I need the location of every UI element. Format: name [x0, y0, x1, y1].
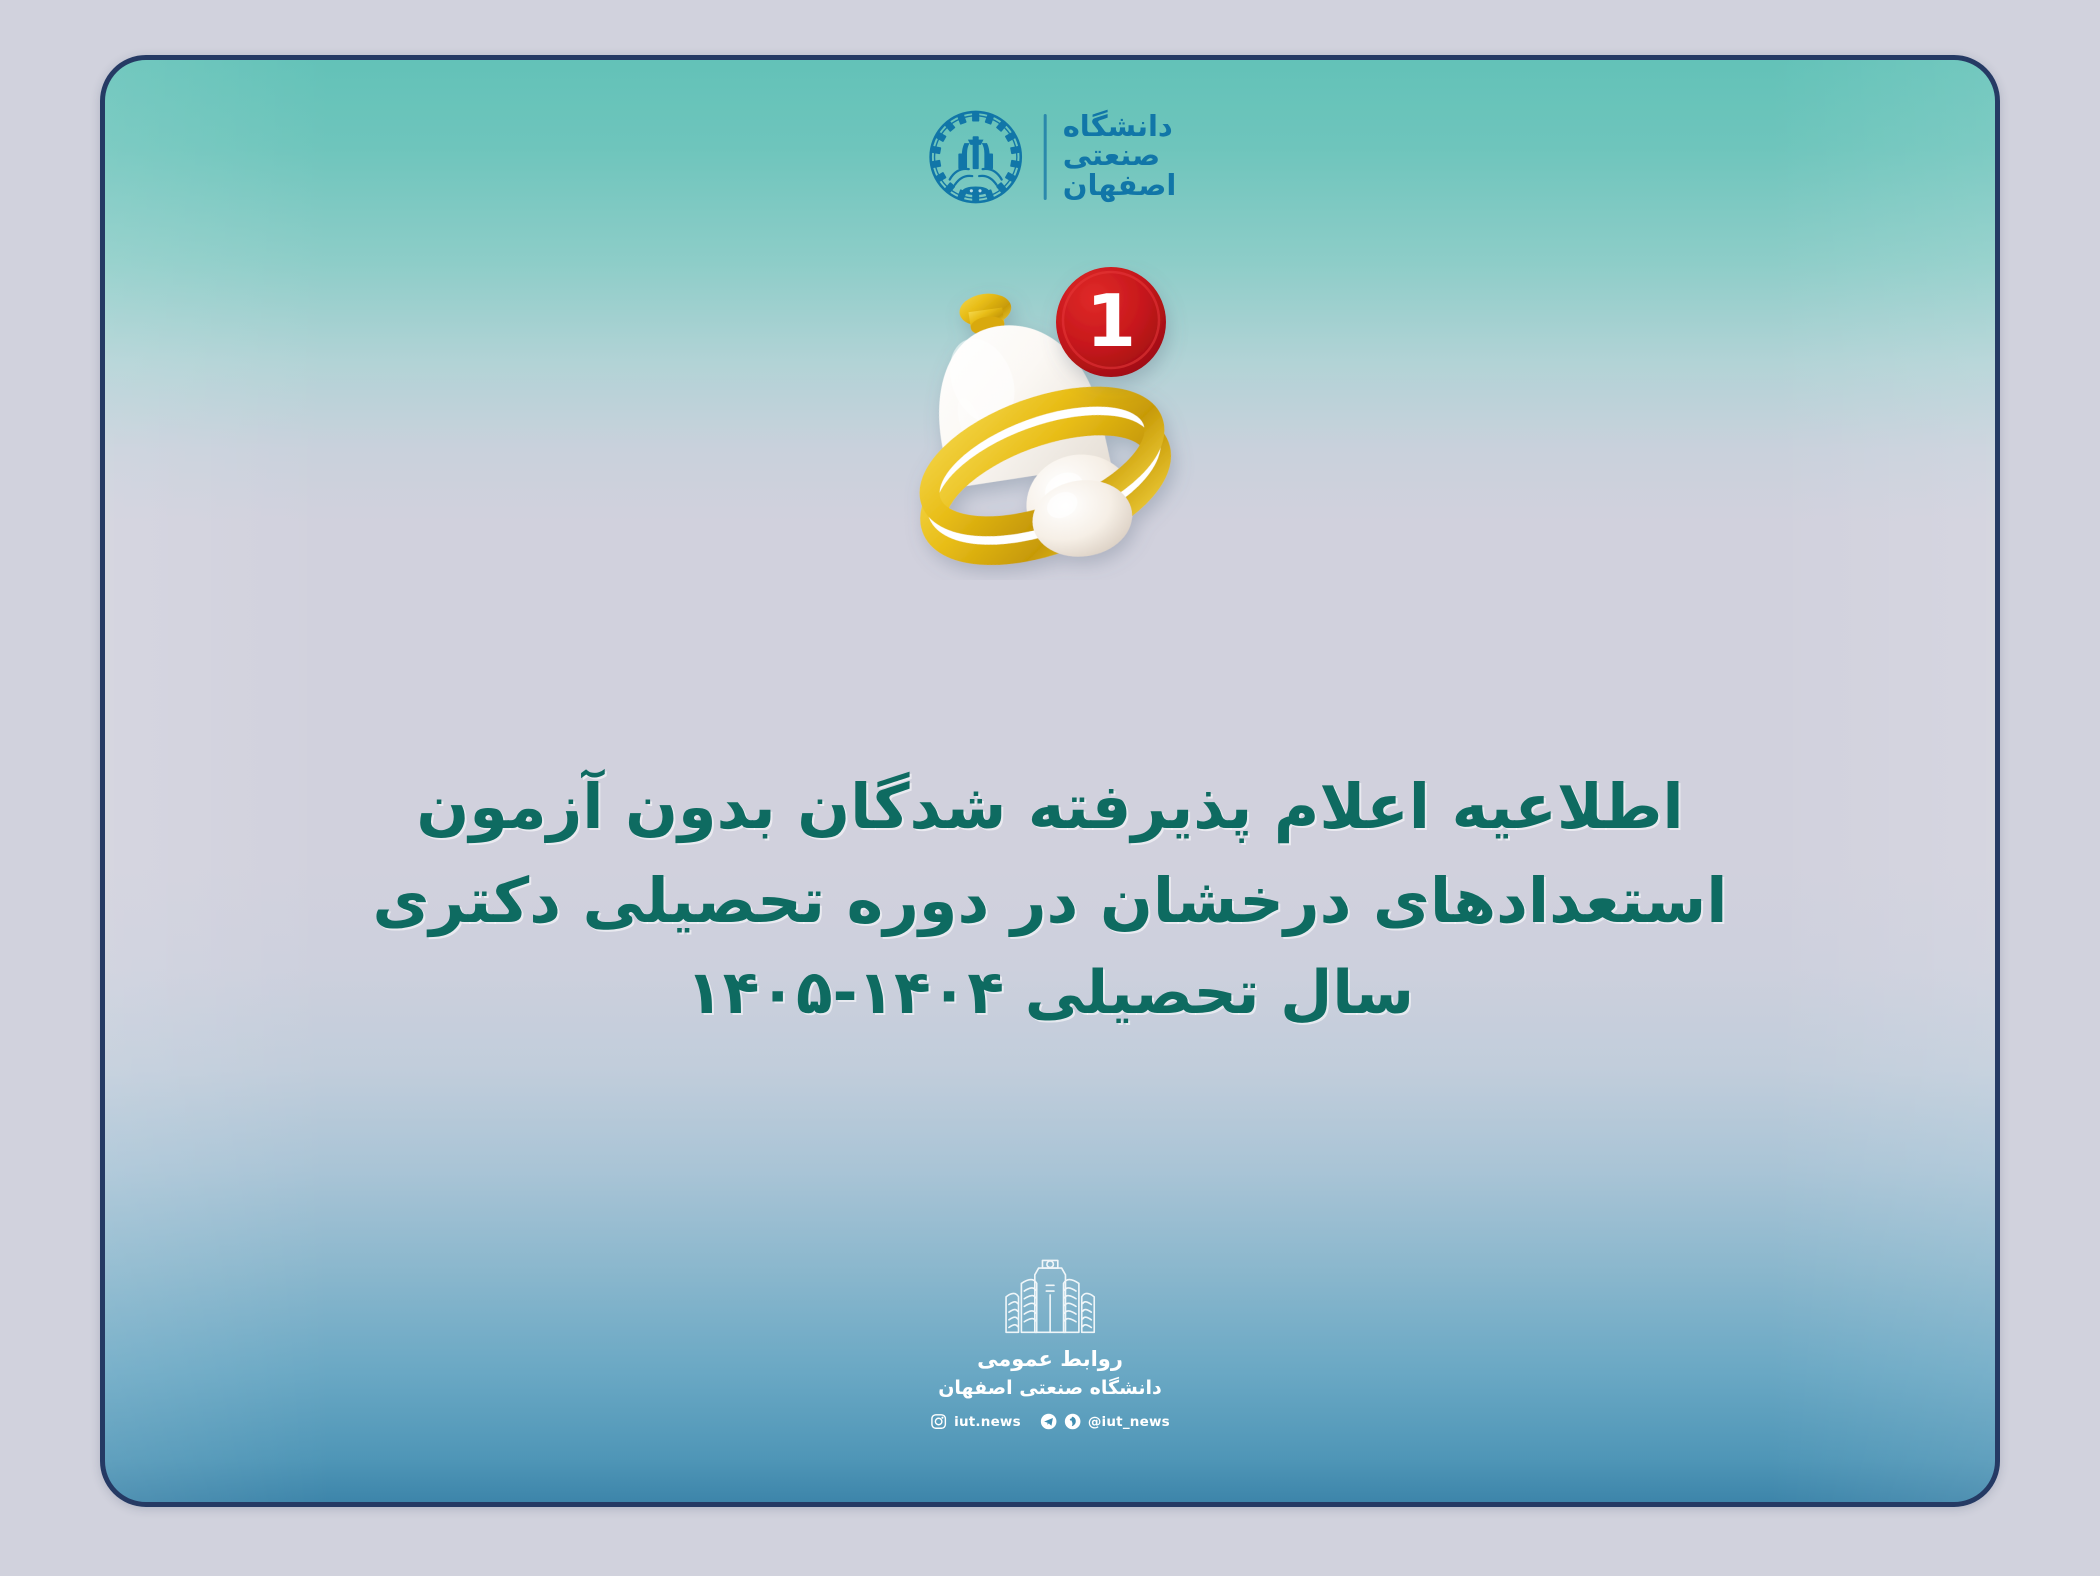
iut-gear-emblem-icon — [924, 105, 1028, 209]
badge-count: 1 — [1086, 279, 1136, 363]
bale-icon[interactable] — [1064, 1413, 1081, 1430]
social-handles: iut.news @iut_news — [930, 1413, 1170, 1430]
brand-wordmark: دانشگاه صنعتی اصفهان — [1063, 112, 1177, 203]
telegram-bale-handle[interactable]: @iut_news — [1088, 1414, 1170, 1430]
brand-word-line-1: دانشگاه — [1063, 112, 1173, 142]
announcement-headline: اطلاعیه اعلام پذیرفته شدگان بدون آزمون ا… — [340, 760, 1760, 1040]
brand-divider — [1044, 114, 1047, 200]
brand-word-line-2: صنعتی — [1063, 141, 1160, 171]
instagram-icon[interactable] — [930, 1413, 947, 1430]
bell-illustration-icon: 1 — [885, 260, 1215, 580]
university-brand-lockup: دانشگاه صنعتی اصفهان — [924, 105, 1177, 209]
telegram-icon[interactable] — [1040, 1413, 1057, 1430]
brand-word-line-3: اصفهان — [1063, 171, 1177, 201]
headline-line-3: سال تحصیلی ۱۴۰۴-۱۴۰۵ — [340, 948, 1760, 1039]
announcement-card: دانشگاه صنعتی اصفهان — [100, 55, 2000, 1507]
instagram-handle[interactable]: iut.news — [954, 1414, 1021, 1430]
public-relations-footer: روابط عمومی دانشگاه صنعتی اصفهان iut.new… — [930, 1247, 1170, 1430]
poster-canvas: دانشگاه صنعتی اصفهان — [0, 0, 2100, 1576]
notification-bell-3d: 1 — [885, 260, 1215, 580]
headline-line-1: اطلاعیه اعلام پذیرفته شدگان بدون آزمون — [340, 760, 1760, 854]
footer-org-line-1: روابط عمومی — [977, 1347, 1123, 1371]
footer-org-line-2: دانشگاه صنعتی اصفهان — [938, 1377, 1162, 1399]
iut-tower-building-icon — [992, 1247, 1108, 1339]
headline-line-2: استعدادهای درخشان در دوره تحصیلی دکتری — [340, 854, 1760, 948]
